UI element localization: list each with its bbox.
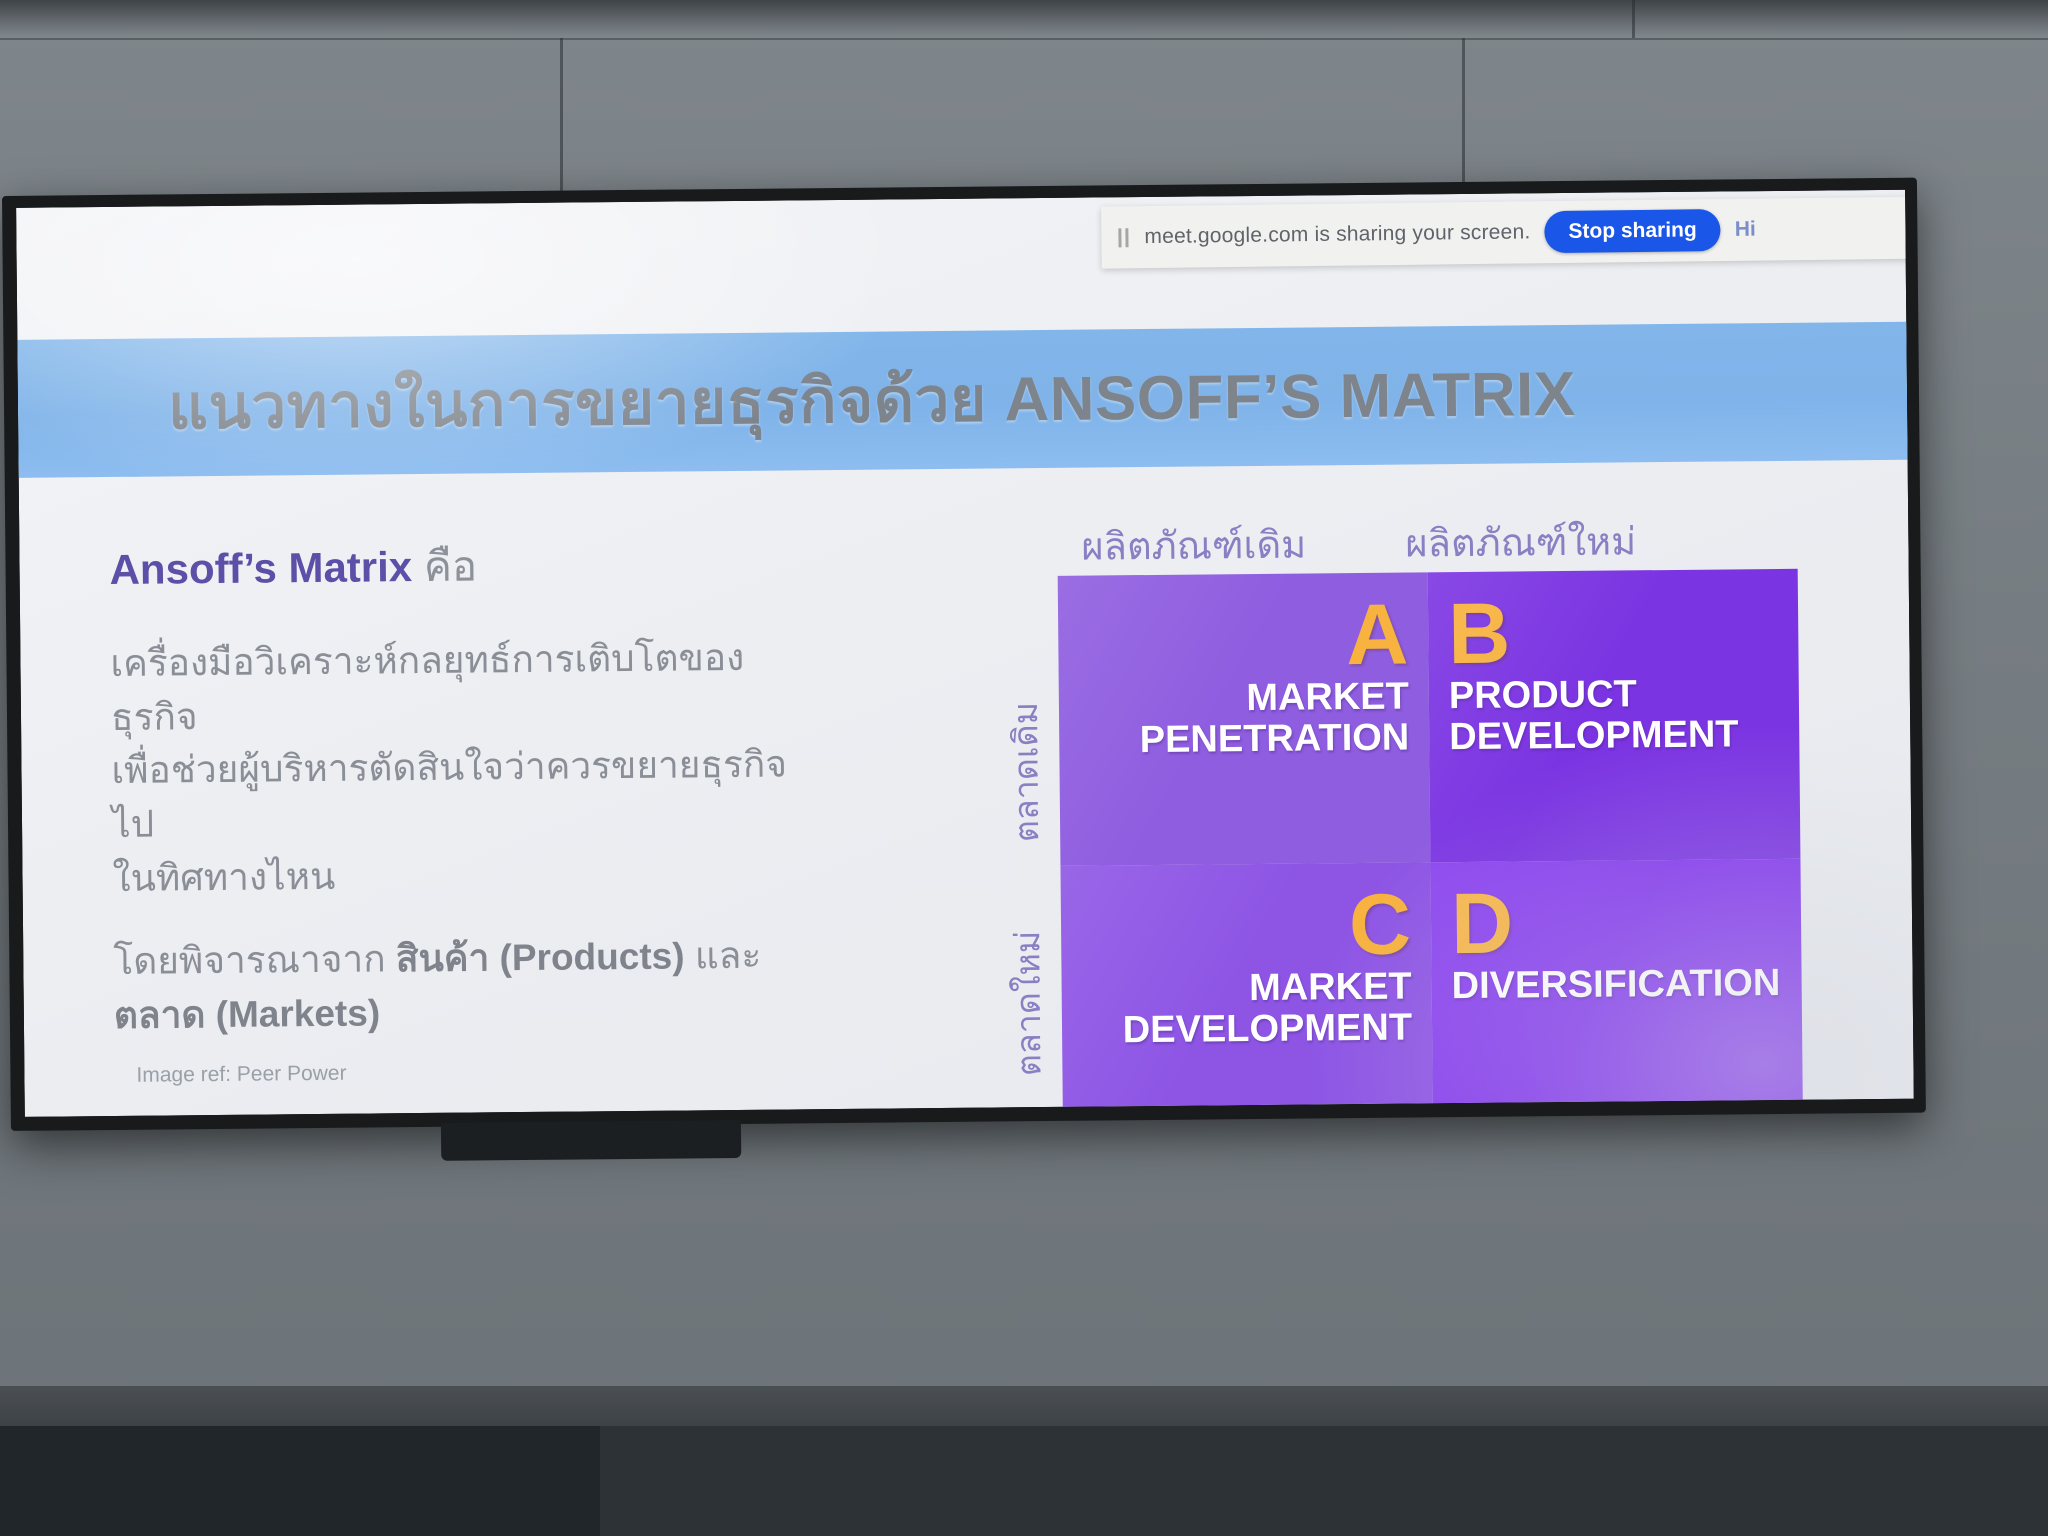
matrix-cell-letter: B <box>1448 594 1511 676</box>
matrix-grid: A MARKET PENETRATION B PRODUCT DEVELOPME… <box>1058 569 1804 1117</box>
presentation-slide: meet.google.com is sharing your screen. … <box>16 190 1914 1117</box>
slide-left-column: Ansoff’s Matrix คือ เครื่องมือวิเคราะห์ก… <box>109 530 794 1072</box>
screen-share-notification-bar[interactable]: meet.google.com is sharing your screen. … <box>1101 196 1914 269</box>
wall-seam <box>0 38 2048 40</box>
definition-heading: Ansoff’s Matrix คือ <box>109 530 790 603</box>
matrix-cell-caption: PRODUCT DEVELOPMENT <box>1449 673 1739 758</box>
hide-link[interactable]: Hi <box>1735 218 1756 242</box>
matrix-cell-market-penetration[interactable]: A MARKET PENETRATION <box>1058 572 1431 866</box>
criteria-text-1: โดยพิจารณาจาก <box>113 938 396 982</box>
floor-area <box>0 1386 2048 1536</box>
stop-sharing-button[interactable]: Stop sharing <box>1544 209 1721 253</box>
floor-shadow-right <box>600 1426 2048 1536</box>
wall-panel-line <box>1632 0 1635 38</box>
definition-paragraph: เครื่องมือวิเคราะห์กลยุทธ์การเติบโตของธุ… <box>110 630 793 905</box>
matrix-row-header-new-market: ตลาดใหม่ <box>1000 846 1056 1077</box>
wall-panel-line <box>1462 38 1465 198</box>
matrix-cell-caption: MARKET PENETRATION <box>1139 676 1409 761</box>
definition-heading-en: Ansoff’s Matrix <box>109 543 412 593</box>
criteria-products: สินค้า (Products) <box>396 936 685 980</box>
criteria-text-2: และ <box>684 935 761 977</box>
share-status-text: meet.google.com is sharing your screen. <box>1144 220 1530 249</box>
slide-title-band: แนวทางในการขยายธุรกิจด้วย ANSOFF’S MATRI… <box>17 322 1907 478</box>
floor-shadow-left <box>0 1426 600 1536</box>
criteria-markets: ตลาด (Markets) <box>114 992 381 1036</box>
image-credit: Image ref: Peer Power <box>136 1062 346 1088</box>
ansoff-matrix-diagram: ผลิตภัณฑ์เดิม ผลิตภัณฑ์ใหม่ ตลาดเดิม ตลา… <box>1009 509 1816 1117</box>
matrix-cell-product-development[interactable]: B PRODUCT DEVELOPMENT <box>1428 569 1801 863</box>
criteria-paragraph: โดยพิจารณาจาก สินค้า (Products) และ ตลาด… <box>113 929 794 1043</box>
display-stand <box>441 1120 741 1161</box>
meeting-room-background: meet.google.com is sharing your screen. … <box>0 0 2048 1536</box>
definition-heading-th: คือ <box>424 542 478 590</box>
matrix-cell-caption: DIVERSIFICATION <box>1451 963 1780 1007</box>
matrix-cell-market-development[interactable]: C MARKET DEVELOPMENT <box>1060 862 1433 1117</box>
matrix-cell-letter: D <box>1451 884 1514 966</box>
matrix-cell-caption: MARKET DEVELOPMENT <box>1122 966 1412 1051</box>
wall-panel-line <box>560 38 563 198</box>
display-panel: meet.google.com is sharing your screen. … <box>16 190 1914 1117</box>
matrix-column-header-existing-product: ผลิตภัณฑ์เดิม <box>1081 513 1306 576</box>
ceiling-shadow <box>0 0 2048 36</box>
pause-icon <box>1117 228 1130 247</box>
matrix-column-header-new-product: ผลิตภัณฑ์ใหม่ <box>1405 510 1636 573</box>
matrix-row-header-existing-market: ตลาดเดิม <box>998 612 1054 843</box>
matrix-cell-letter: A <box>1346 595 1409 677</box>
matrix-cell-letter: C <box>1349 885 1412 967</box>
wall-mounted-display: meet.google.com is sharing your screen. … <box>2 178 1926 1131</box>
page-title: แนวทางในการขยายธุรกิจด้วย ANSOFF’S MATRI… <box>168 345 1577 457</box>
matrix-cell-diversification[interactable]: D DIVERSIFICATION <box>1430 859 1803 1117</box>
